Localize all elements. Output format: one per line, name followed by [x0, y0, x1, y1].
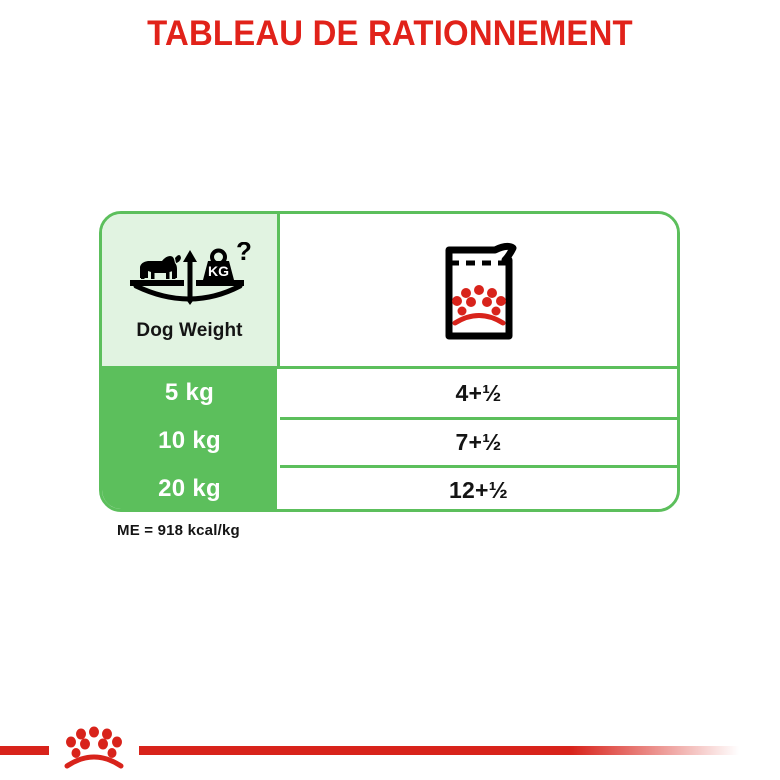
brand-bar-left-segment	[0, 746, 49, 755]
cell-dog-weight: 5 kg	[102, 369, 280, 417]
cell-amount: 7+½	[280, 420, 677, 465]
cell-amount: 4+½	[280, 369, 677, 417]
brand-footer	[0, 700, 780, 780]
table-header-row: KG ? Dog Weight	[102, 214, 677, 369]
dog-weight-label: Dog Weight	[136, 320, 242, 342]
crown-icon	[54, 718, 134, 774]
page-title: TABLEAU DE RATIONNEMENT	[23, 14, 756, 54]
brand-bar-right-segment	[139, 746, 739, 755]
cell-amount: 12+½	[280, 468, 677, 512]
cell-dog-weight: 20 kg	[102, 465, 280, 512]
cell-dog-weight: 10 kg	[102, 417, 280, 465]
svg-text:?: ?	[236, 242, 252, 266]
table-row: 20 kg 12+½	[102, 465, 677, 512]
feeding-guide-table: KG ? Dog Weight	[99, 211, 680, 512]
svg-text:KG: KG	[208, 263, 229, 279]
metabolisable-energy-footnote: ME = 918 kcal/kg	[117, 522, 240, 539]
table-row: 10 kg 7+½	[102, 417, 677, 465]
dog-weight-scale-icon: KG ?	[126, 242, 254, 308]
table-row: 5 kg 4+½	[102, 369, 677, 417]
header-cell-product	[280, 214, 677, 366]
header-cell-dog-weight: KG ? Dog Weight	[102, 214, 280, 366]
pouch-icon	[433, 238, 525, 342]
